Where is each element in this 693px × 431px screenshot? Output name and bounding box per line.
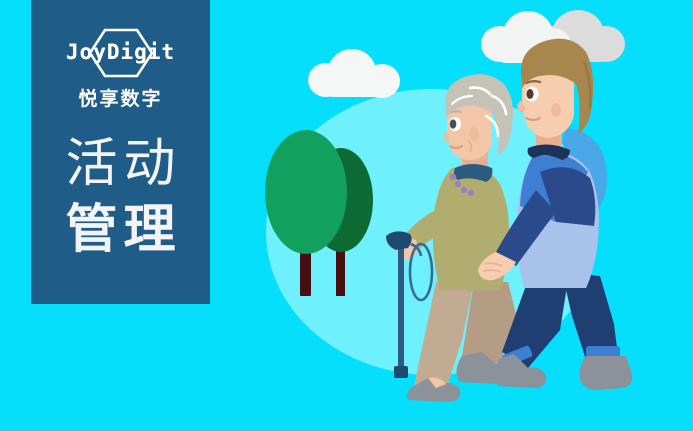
logo-wordmark: JoyDigit bbox=[31, 40, 210, 64]
banner-root: JoyDigit 悦享数字 活动 管理 bbox=[0, 0, 693, 431]
page-title: 活动 管理 bbox=[31, 131, 210, 263]
logo-chinese-name: 悦享数字 bbox=[31, 84, 210, 111]
man-hoodie-panel-light bbox=[552, 222, 595, 276]
logo-mark: JoyDigit bbox=[31, 26, 210, 80]
man-front-shoe bbox=[580, 356, 633, 390]
brand-logo: JoyDigit 悦享数字 bbox=[31, 26, 210, 111]
page-title-line1: 活动 bbox=[31, 131, 210, 197]
info-panel: JoyDigit 悦享数字 活动 管理 bbox=[31, 0, 210, 304]
page-title-line2: 管理 bbox=[31, 197, 210, 263]
